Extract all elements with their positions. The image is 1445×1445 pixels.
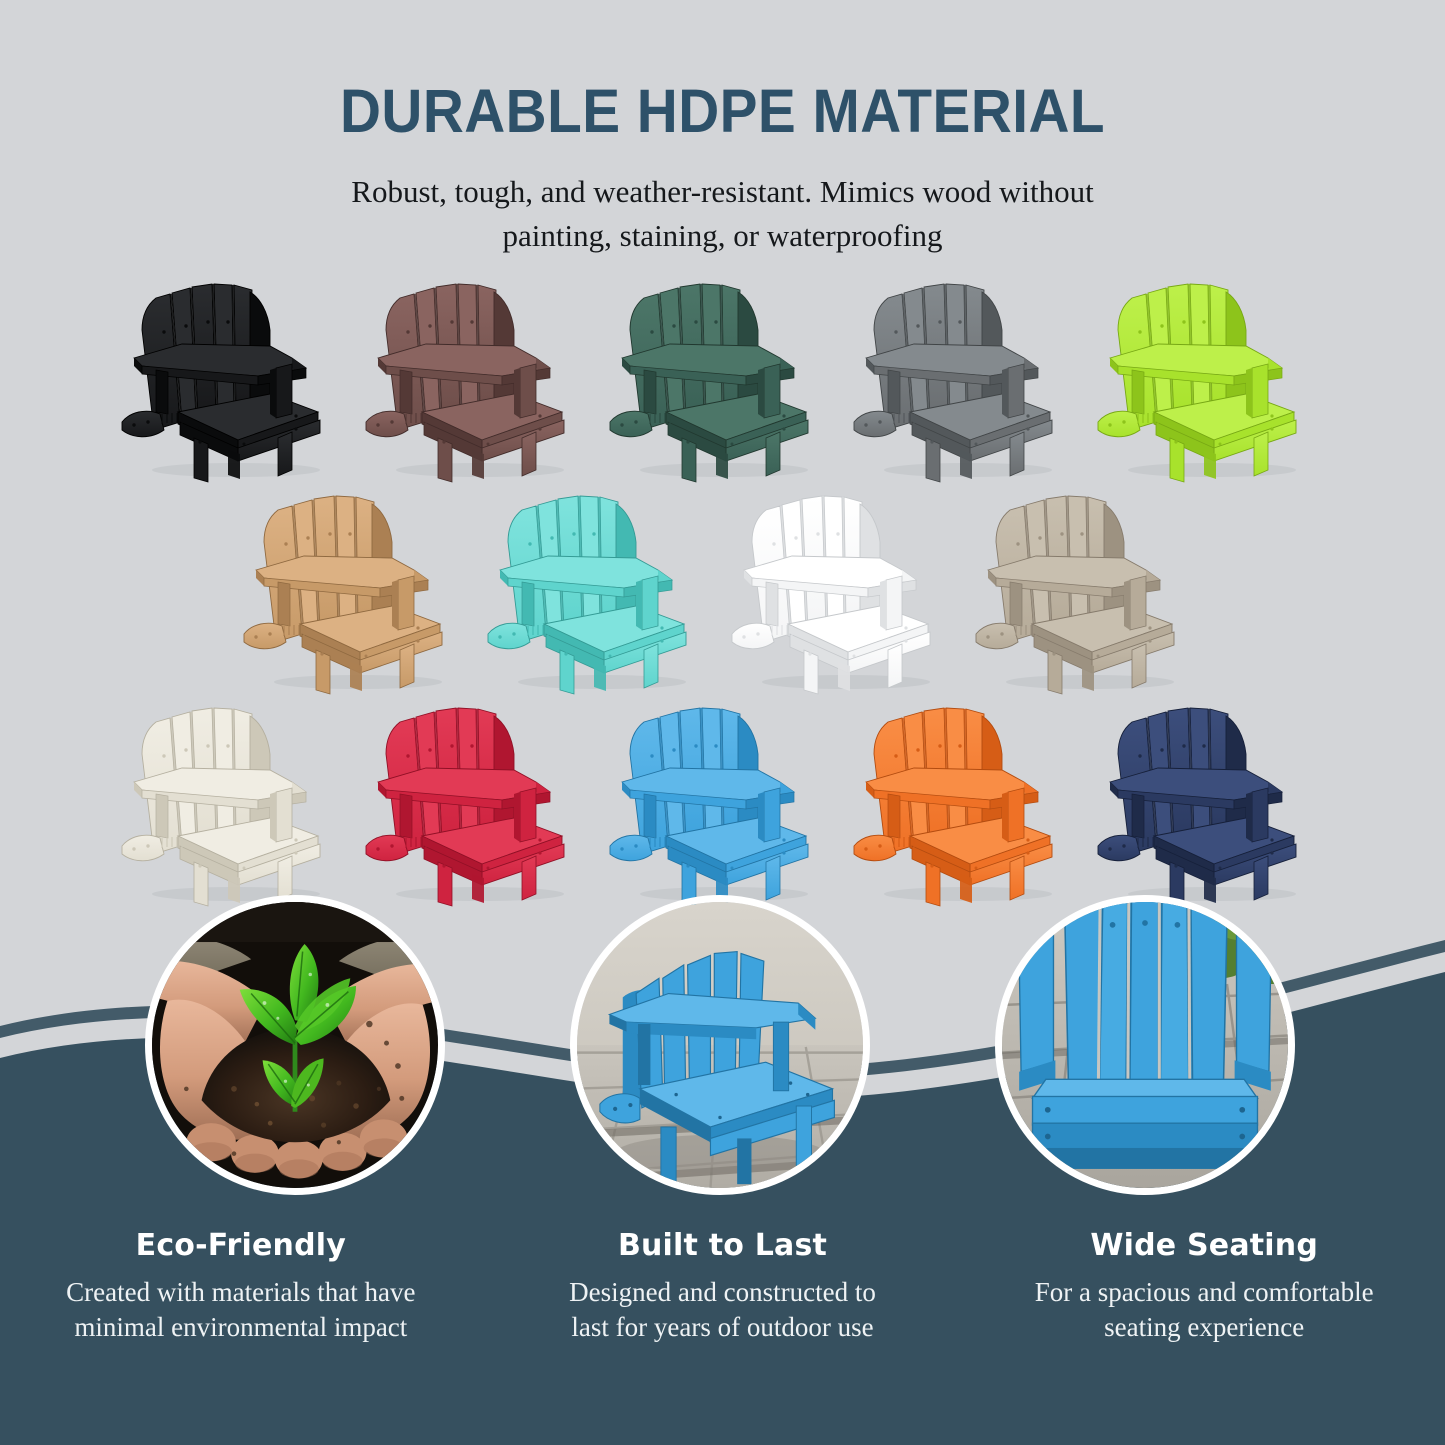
infographic-canvas: DURABLE HDPE MATERIAL Robust, tough, and… [0, 0, 1445, 1445]
chair-row-3 [0, 696, 1445, 911]
chair-swatch-lime-green[interactable] [1096, 272, 1326, 487]
feature-desc-line-1: Designed and constructed to [569, 1277, 876, 1307]
feature-desc-line-1: For a spacious and comfortable [1035, 1277, 1374, 1307]
feature-description: Designed and constructed to last for yea… [496, 1275, 950, 1344]
subtitle-line-2: painting, staining, or waterproofing [223, 214, 1223, 258]
chair-row-1 [0, 272, 1445, 487]
chair-swatch-dark-green[interactable] [608, 272, 838, 487]
chair-color-grid [0, 272, 1445, 911]
feature-title: Eco-Friendly [14, 1228, 468, 1263]
chair-swatch-khaki[interactable] [974, 484, 1204, 699]
feature-title: Built to Last [496, 1228, 950, 1263]
chair-swatch-ivory[interactable] [120, 696, 350, 911]
chair-swatch-blue[interactable] [608, 696, 838, 911]
chair-swatch-white[interactable] [730, 484, 960, 699]
feature-desc-line-1: Created with materials that have [66, 1277, 415, 1307]
header: DURABLE HDPE MATERIAL Robust, tough, and… [0, 0, 1445, 258]
page-subtitle: Robust, tough, and weather-resistant. Mi… [223, 146, 1223, 258]
page-title: DURABLE HDPE MATERIAL [51, 0, 1395, 146]
feature-desc-line-2: last for years of outdoor use [571, 1312, 873, 1342]
chair-swatch-red[interactable] [364, 696, 594, 911]
subtitle-line-1: Robust, tough, and weather-resistant. Mi… [223, 170, 1223, 214]
chair-swatch-brown[interactable] [364, 272, 594, 487]
chair-swatch-teak[interactable] [242, 484, 472, 699]
feature-built-to-last: Built to Last Designed and constructed t… [482, 1228, 964, 1344]
feature-wide-seating: Wide Seating For a spacious and comforta… [963, 1228, 1445, 1344]
chair-swatch-navy-blue[interactable] [1096, 696, 1326, 911]
chair-swatch-gray[interactable] [852, 272, 1082, 487]
chair-swatch-orange[interactable] [852, 696, 1082, 911]
feature-description: Created with materials that have minimal… [14, 1275, 468, 1344]
feature-desc-line-2: minimal environmental impact [74, 1312, 407, 1342]
feature-description: For a spacious and comfortable seating e… [977, 1275, 1431, 1344]
wide-seating-image[interactable] [995, 895, 1295, 1195]
chair-swatch-black[interactable] [120, 272, 350, 487]
built-to-last-image[interactable] [570, 895, 870, 1195]
feature-title: Wide Seating [977, 1228, 1431, 1263]
feature-text-row: Eco-Friendly Created with materials that… [0, 1228, 1445, 1344]
eco-friendly-image[interactable] [145, 895, 445, 1195]
chair-row-2 [0, 484, 1445, 699]
chair-swatch-turquoise[interactable] [486, 484, 716, 699]
feature-desc-line-2: seating experience [1104, 1312, 1304, 1342]
feature-eco-friendly: Eco-Friendly Created with materials that… [0, 1228, 482, 1344]
